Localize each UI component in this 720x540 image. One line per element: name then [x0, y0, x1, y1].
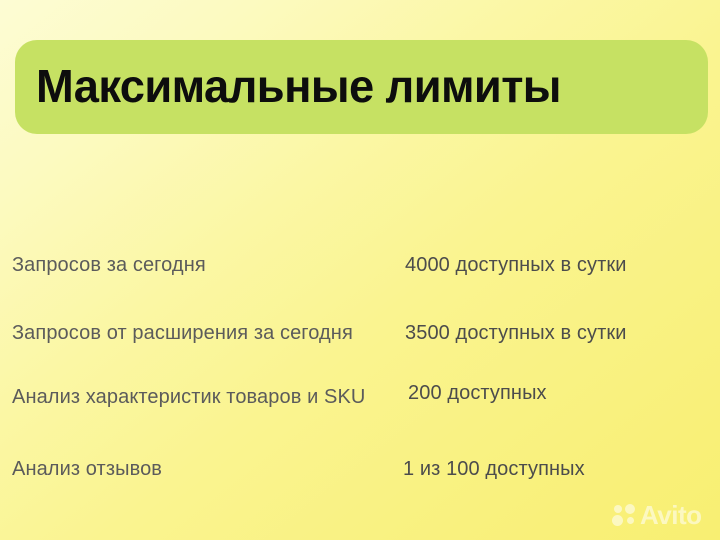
limit-label: Анализ отзывов	[12, 456, 162, 482]
limit-row: Запросов за сегодня 4000 доступных в сут…	[0, 252, 720, 286]
limit-value: 200 доступных	[408, 380, 547, 406]
limit-row: Анализ отзывов 1 из 100 доступных	[0, 456, 720, 490]
limit-label: Запросов за сегодня	[12, 252, 206, 278]
avito-watermark: Avito	[612, 498, 710, 532]
limit-value: 4000 доступных в сутки	[405, 252, 627, 278]
limit-label: Запросов от расширения за сегодня	[12, 320, 353, 346]
limit-value: 3500 доступных в сутки	[405, 320, 627, 346]
screen: Максимальные лимиты Запросов за сегодня …	[0, 0, 720, 540]
avito-dots-icon	[612, 503, 638, 527]
limit-label: Анализ характеристик товаров и SKU	[12, 384, 365, 410]
page-title: Максимальные лимиты	[36, 63, 561, 109]
limit-row: Запросов от расширения за сегодня 3500 д…	[0, 320, 720, 354]
avito-watermark-label: Avito	[640, 502, 702, 528]
page-title-banner: Максимальные лимиты	[15, 40, 708, 134]
limit-row: Анализ характеристик товаров и SKU 200 д…	[0, 384, 720, 418]
limit-value: 1 из 100 доступных	[403, 456, 585, 482]
